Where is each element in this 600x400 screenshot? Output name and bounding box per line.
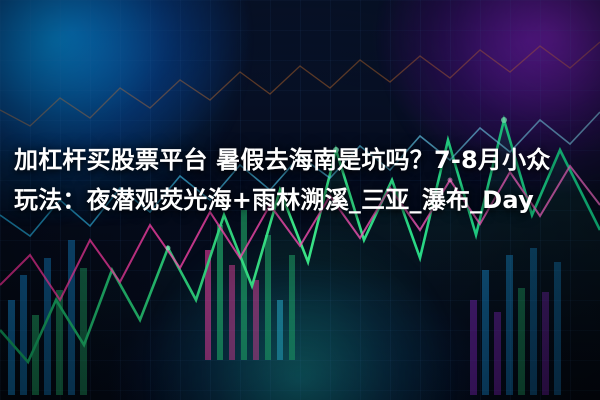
title-container: 加杠杆买股票平台 暑假去海南是坑吗？7-8月小众玩法：夜潜观荧光海+雨林溯溪_三… <box>0 140 600 220</box>
series-orange-line <box>0 42 600 126</box>
article-cover-banner: 加杠杆买股票平台 暑假去海南是坑吗？7-8月小众玩法：夜潜观荧光海+雨林溯溪_三… <box>0 0 600 400</box>
title-line-1: 加杠杆买股票平台 暑假去海南是坑吗？7-8月小众 <box>14 146 551 174</box>
title-line-2: 玩法：夜潜观荧光海+雨林溯溪_三亚_瀑布_Day <box>14 186 534 214</box>
page-title: 加杠杆买股票平台 暑假去海南是坑吗？7-8月小众玩法：夜潜观荧光海+雨林溯溪_三… <box>14 140 586 220</box>
